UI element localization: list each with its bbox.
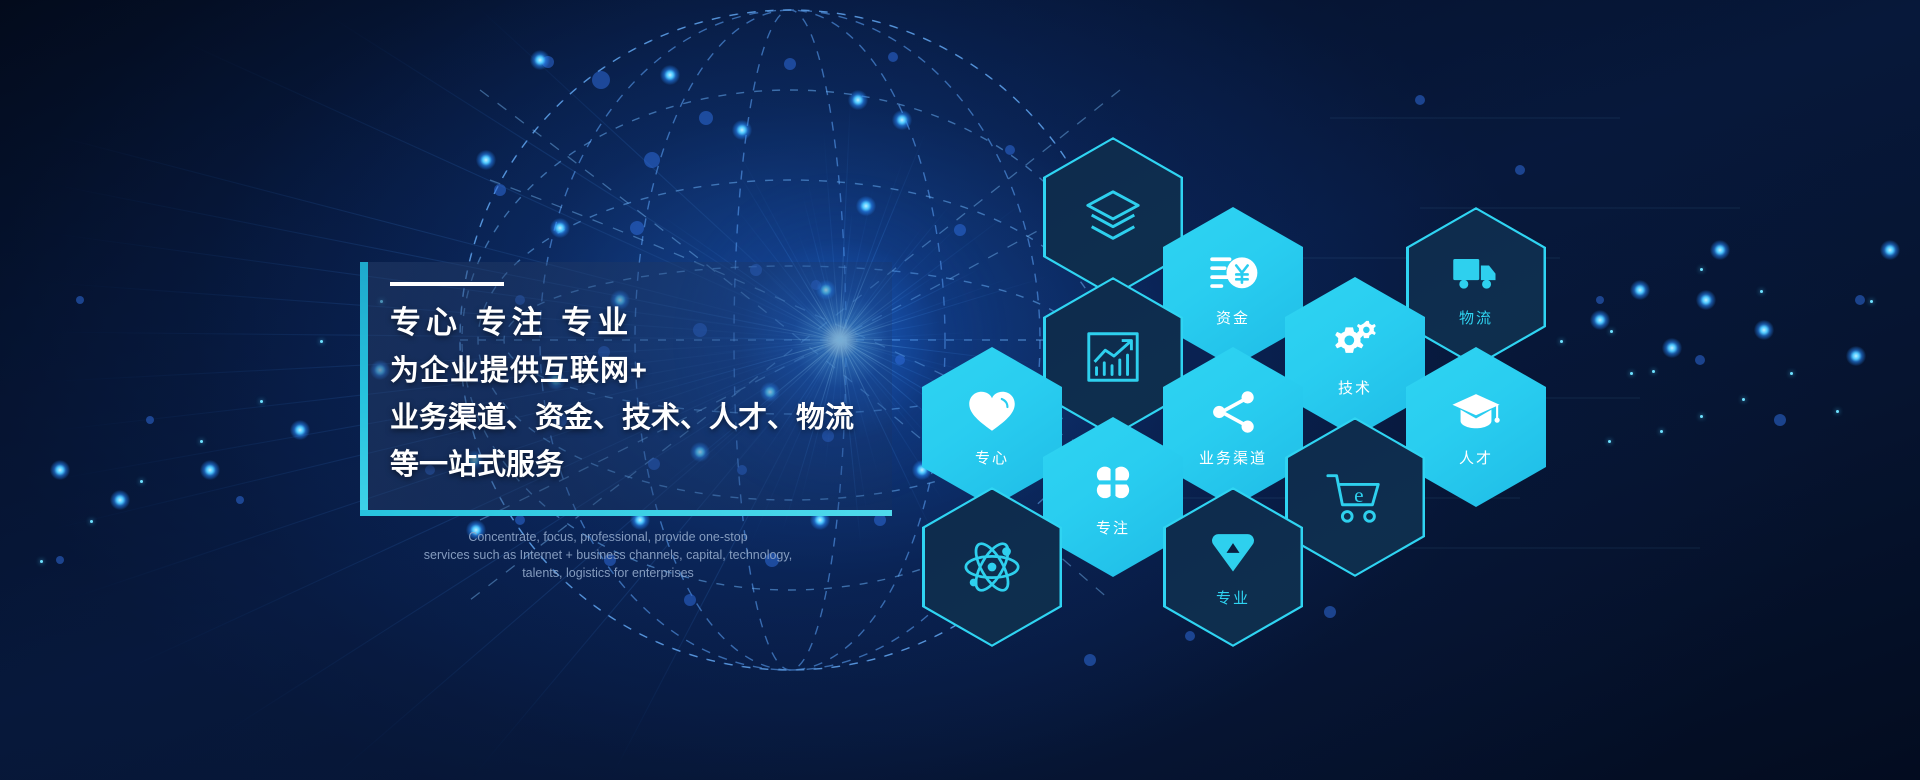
atom-icon xyxy=(961,536,1023,598)
graduation-cap-icon xyxy=(1450,386,1502,438)
heart-icon xyxy=(966,386,1018,438)
headline-line-4: 等一站式服务 xyxy=(390,442,892,489)
hexagon-label: 专业 xyxy=(1216,587,1250,608)
hexagon-label: 业务渠道 xyxy=(1199,447,1267,468)
panel-accent-bar-left xyxy=(360,262,368,516)
hexagon-jishu[interactable]: 技术 xyxy=(1285,277,1425,437)
subtitle-line-1: Concentrate, focus, professional, provid… xyxy=(398,528,818,546)
hero-text-panel: 专心 专注 专业 为企业提供互联网+ 业务渠道、资金、技术、人才、物流 等一站式… xyxy=(360,262,892,516)
hexagon-zijin[interactable]: 资金 xyxy=(1163,207,1303,367)
hexagon-layers[interactable] xyxy=(1043,137,1183,297)
headline-line-3: 业务渠道、资金、技术、人才、物流 xyxy=(390,395,892,442)
hexagon-zhuanzhu[interactable]: 专注 xyxy=(1043,417,1183,577)
hexagon-label: 资金 xyxy=(1216,307,1250,328)
diamond-icon xyxy=(1207,526,1259,578)
hexagon-chart[interactable] xyxy=(1043,277,1183,437)
hexagon-label: 技术 xyxy=(1338,377,1372,398)
gears-icon xyxy=(1329,316,1381,368)
hexagon-zhuanye[interactable]: 专业 xyxy=(1163,487,1303,647)
truck-icon xyxy=(1450,246,1502,298)
hexagon-cart[interactable]: e xyxy=(1285,417,1425,577)
hexagon-wuliu[interactable]: 物流 xyxy=(1406,207,1546,367)
hexagon-label: 专心 xyxy=(975,447,1009,468)
headline-line-2: 为企业提供互联网+ xyxy=(390,348,892,395)
title-rule xyxy=(390,282,504,286)
subtitle-line-3: talents, logistics for enterprises xyxy=(398,564,818,582)
subtitle-line-2: services such as Internet + business cha… xyxy=(398,546,818,564)
share-node-icon xyxy=(1207,386,1259,438)
hexagon-rencai[interactable]: 人才 xyxy=(1406,347,1546,507)
svg-text:e: e xyxy=(1354,483,1363,507)
ecommerce-cart-icon: e xyxy=(1324,466,1386,528)
hexagon-yewu[interactable]: 业务渠道 xyxy=(1163,347,1303,507)
growth-chart-icon xyxy=(1082,326,1144,388)
yen-coin-icon xyxy=(1207,246,1259,298)
panel-accent-bar-bottom xyxy=(360,510,892,516)
hero-subtitle: Concentrate, focus, professional, provid… xyxy=(398,528,818,582)
hexagon-label: 人才 xyxy=(1459,447,1493,468)
headline-line-1: 专心 专注 专业 xyxy=(390,298,892,348)
layers-icon xyxy=(1082,186,1144,248)
clover-icon xyxy=(1087,456,1139,508)
hexagon-label: 物流 xyxy=(1459,307,1493,328)
hero-banner: 专心 专注 专业 为企业提供互联网+ 业务渠道、资金、技术、人才、物流 等一站式… xyxy=(0,0,1920,780)
hexagon-label: 专注 xyxy=(1096,517,1130,538)
